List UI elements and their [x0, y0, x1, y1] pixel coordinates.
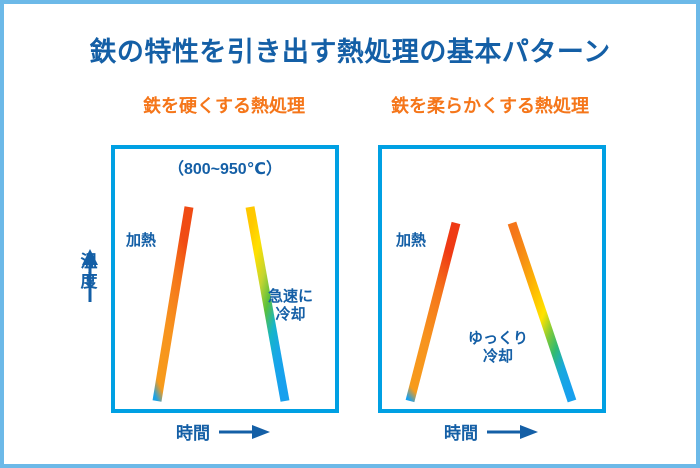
chart-panel-hardening [111, 145, 339, 413]
page-title: 鉄の特性を引き出す熱処理の基本パターン [4, 30, 696, 69]
chart-panel-softening [378, 145, 606, 413]
cooling-label-softening-line1: ゆっくり [468, 330, 528, 348]
temperature-range-label: （800~950℃） [111, 160, 339, 180]
x-axis-label-softening: 時間 [444, 419, 478, 444]
y-axis-label-line1: 温 [72, 252, 106, 272]
infographic-root: 鉄の特性を引き出す熱処理の基本パターン 鉄を硬くする熱処理 鉄を柔らかくする熱処… [0, 0, 700, 468]
panel-subtitle-softening: 鉄を柔らかくする熱処理 [372, 92, 608, 118]
heating-label-hardening: 加熱 [126, 232, 156, 250]
cooling-label-softening-line2: 冷却 [468, 348, 528, 366]
hardening-curve-svg [115, 149, 335, 409]
heating-ramp-line [157, 207, 189, 401]
cooling-label-softening: ゆっくり 冷却 [468, 330, 528, 367]
softening-curve-svg [382, 149, 602, 409]
cooling-label-hardening: 急速に 冷却 [268, 288, 313, 325]
y-axis-label: 温 度 [72, 252, 106, 291]
x-axis-label-hardening: 時間 [176, 419, 210, 444]
cooling-label-hardening-line2: 冷却 [268, 306, 313, 324]
cooling-label-hardening-line1: 急速に [268, 288, 313, 306]
time-axis-arrow-icon [219, 424, 271, 440]
slow-cooling-line [512, 223, 572, 401]
heating-label-softening: 加熱 [396, 232, 426, 250]
x-axis-hardening: 時間 [176, 419, 271, 444]
panel-subtitle-hardening: 鉄を硬くする熱処理 [106, 92, 342, 118]
y-axis-label-line2: 度 [72, 272, 106, 292]
time-axis-arrow-icon [487, 424, 539, 440]
x-axis-softening: 時間 [444, 419, 539, 444]
